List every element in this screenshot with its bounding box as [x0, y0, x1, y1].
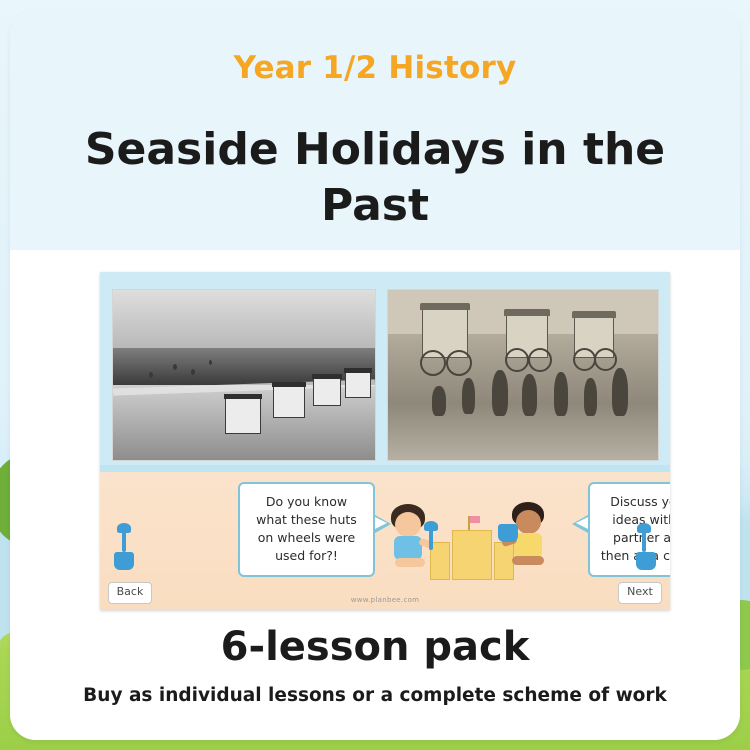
leg [512, 556, 544, 565]
wheel-icon [420, 350, 446, 376]
speech-bubble-tail-inner [576, 517, 588, 529]
bathing-machine [313, 378, 341, 406]
body [514, 533, 542, 558]
body [394, 536, 422, 560]
bather-figure [492, 370, 508, 416]
figure-dot [209, 360, 212, 365]
subject-label: Year 1/2 History [10, 50, 740, 86]
wheel-icon [594, 348, 617, 371]
bather-figure [612, 368, 628, 416]
bucket-icon [498, 524, 518, 542]
child-illustration-left [385, 504, 439, 578]
bather-figure [554, 372, 568, 416]
head [395, 512, 421, 537]
tagline-label: Buy as individual lessons or a complete … [10, 685, 740, 706]
wheel-icon [505, 348, 529, 372]
historical-photo-right [387, 289, 659, 461]
bucket-icon [636, 552, 656, 570]
spade-icon [122, 530, 126, 552]
bathing-machine [225, 398, 261, 434]
historical-photo-left [112, 289, 376, 461]
castle-tower [452, 530, 492, 580]
product-card: Year 1/2 History Seaside Holidays in the… [10, 10, 740, 740]
card-inner: Year 1/2 History Seaside Holidays in the… [10, 10, 740, 740]
pack-label: 6-lesson pack [10, 624, 740, 670]
castle-flag-icon [468, 516, 470, 530]
slide-preview[interactable]: Do you know what these huts on wheels we… [100, 272, 670, 610]
speech-bubble-left: Do you know what these huts on wheels we… [238, 482, 375, 577]
figure-dot [191, 369, 195, 375]
figure-dot [149, 372, 153, 378]
wheel-icon [528, 348, 552, 372]
page-title: Seaside Holidays in the Past [50, 122, 700, 235]
wheel-icon [573, 348, 596, 371]
spade-icon [429, 528, 433, 550]
figure-dot [173, 364, 177, 370]
head [516, 510, 541, 534]
bather-figure [522, 374, 537, 416]
speech-bubble-right: Discuss your ideas with a partner and th… [588, 482, 670, 577]
bathing-machine [273, 386, 305, 418]
bucket-icon [114, 552, 134, 570]
photo-sky [113, 290, 375, 348]
bathing-machine [345, 372, 371, 398]
leg [395, 558, 425, 567]
wheel-icon [446, 350, 472, 376]
bather-figure [462, 378, 475, 414]
spade-icon [642, 530, 646, 552]
watermark-label: www.planbee.com [100, 596, 670, 604]
child-illustration-right [504, 502, 560, 578]
bather-figure [432, 386, 446, 416]
bather-figure [584, 378, 597, 416]
